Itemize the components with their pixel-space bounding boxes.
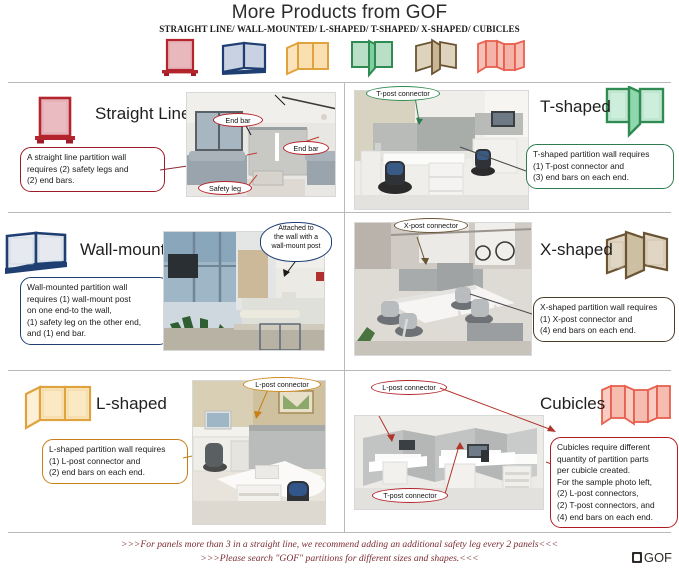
annotation-t-post-connector: T-post connector [366,86,440,101]
page-subtitle: STRAIGHT LINE/ WALL-MOUNTED/ L-SHAPED/ T… [0,24,679,34]
t-shaped-callout: T-shaped partition wall requires (1) T-p… [526,144,674,189]
annotation-cubicle-l-post: L-post connector [371,380,447,395]
annotation-x-post-connector: X-post connector [394,218,468,233]
vertical-divider [344,82,345,532]
cubicles-icon [600,382,672,437]
footer-line-2: >>>Please search "GOF" partitions for di… [0,553,679,564]
wall-mounted-swatch [220,38,268,78]
infographic-page: More Products from GOF STRAIGHT LINE/ WA… [0,0,679,571]
l-shaped-icon [24,382,94,439]
divider-mid-1 [8,212,671,213]
x-shaped-swatch [412,38,460,78]
cubicles-label: Cubicles [540,394,605,414]
cubicles-swatch [476,38,524,78]
t-shaped-icon [604,86,666,151]
annotation-l-post-connector: L-post connector [243,377,321,392]
x-shaped-label: X-shaped [540,240,613,260]
annotation-end-bar-1: End bar [213,113,263,127]
gof-logo: GOF [632,550,672,565]
wall-mounted-icon [4,230,70,283]
annotation-safety-leg: Safety leg [198,181,252,195]
straight-line-icon [30,96,82,153]
l-shaped-label: L-shaped [96,394,167,414]
footer-line-1: >>>For panels more than 3 in a straight … [0,539,679,550]
page-title: More Products from GOF [0,2,679,24]
straight-line-label: Straight Line [95,104,190,124]
wall-mounted-callout: Wall-mounted partition wall requires (1)… [20,277,170,345]
swatch-row [0,34,679,78]
annotation-cubicle-t-post: T-post connector [372,488,448,503]
divider-top [8,82,671,83]
gof-logo-text: GOF [644,550,672,565]
annotation-end-bar-2: End bar [283,141,329,155]
divider-bottom [8,532,671,533]
x-shaped-callout: X-shaped partition wall requires (1) X-p… [533,297,675,342]
straight-line-swatch [156,38,204,78]
x-shaped-icon [604,230,670,289]
t-shaped-label: T-shaped [540,97,611,117]
l-shaped-swatch [284,38,332,78]
t-shaped-swatch [348,38,396,78]
l-shaped-photo [192,380,326,525]
annotation-attached-to-wall: Attached to the wall with a wall-mount p… [260,222,332,262]
x-shaped-photo [354,222,532,356]
divider-mid-2 [8,370,671,371]
l-shaped-callout: L-shaped partition wall requires (1) L-p… [42,439,188,484]
straight-line-callout: A straight line partition wall requires … [20,147,165,192]
t-shaped-photo [354,90,529,210]
gof-logo-icon [632,552,642,563]
cubicles-callout: Cubicles require different quantity of p… [550,437,678,528]
